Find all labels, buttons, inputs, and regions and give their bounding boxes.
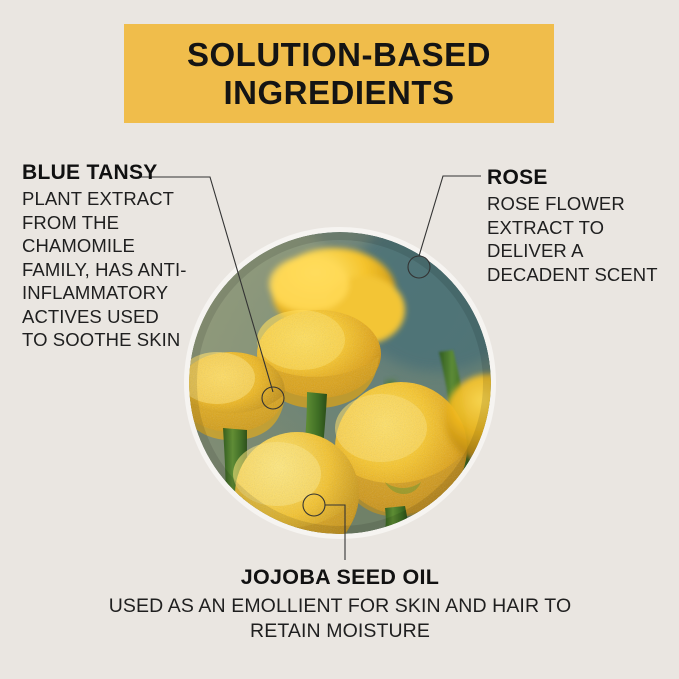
ingredients-infographic: SOLUTION-BASED INGREDIENTS: [0, 0, 679, 679]
callout-blue-tansy-body: PLANT EXTRACT FROM THE CHAMOMILE FAMILY,…: [22, 187, 187, 352]
callout-rose: ROSE ROSE FLOWER EXTRACT TO DELIVER A DE…: [487, 165, 662, 286]
banner-title-line-1: SOLUTION-BASED: [187, 36, 491, 74]
ingredient-photo-circle: [184, 227, 496, 539]
callout-jojoba-title: JOJOBA SEED OIL: [90, 564, 590, 591]
callout-blue-tansy-title: BLUE TANSY: [22, 160, 187, 185]
header-banner: SOLUTION-BASED INGREDIENTS: [124, 24, 554, 123]
callout-blue-tansy: BLUE TANSY PLANT EXTRACT FROM THE CHAMOM…: [22, 160, 187, 352]
callout-rose-title: ROSE: [487, 165, 662, 190]
callout-jojoba: JOJOBA SEED OIL USED AS AN EMOLLIENT FOR…: [90, 564, 590, 644]
banner-title-line-2: INGREDIENTS: [223, 74, 454, 112]
callout-jojoba-body: USED AS AN EMOLLIENT FOR SKIN AND HAIR T…: [90, 594, 590, 644]
callout-rose-body: ROSE FLOWER EXTRACT TO DELIVER A DECADEN…: [487, 192, 662, 286]
tansy-flower-photo: [189, 232, 491, 534]
